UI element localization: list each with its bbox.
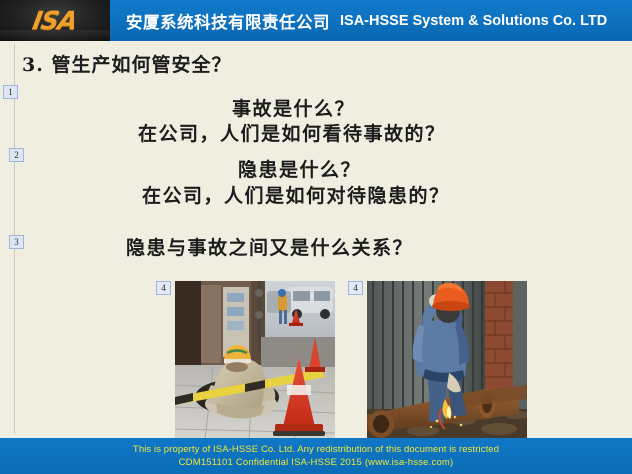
slide-footer: This is property of ISA-HSSE Co. Ltd. An… (0, 438, 632, 474)
annotation-marker-4-left[interactable]: 4 (156, 281, 171, 295)
page-title: 3. 管生产如何管安全？ (22, 50, 231, 77)
annotation-marker-2[interactable]: 2 (9, 148, 24, 162)
annotation-marker-3[interactable]: 3 (9, 235, 24, 249)
isa-logo: ISA (0, 0, 110, 41)
question-1-line-1: 事故是什么？ (232, 94, 355, 121)
photo-manhole-worker-graphic (175, 281, 335, 440)
slide-canvas: ISA 安厦系统科技有限责任公司 ISA-HSSE System & Solut… (0, 0, 632, 474)
annotation-marker-4-right[interactable]: 4 (348, 281, 363, 295)
header-title-bar: 安厦系统科技有限责任公司 ISA-HSSE System & Solutions… (110, 0, 632, 41)
slide-header: ISA 安厦系统科技有限责任公司 ISA-HSSE System & Solut… (0, 0, 632, 41)
annotation-marker-1[interactable]: 1 (3, 85, 18, 99)
footer-document-id-line: CDM151101 Confidential ISA-HSSE 2015 (ww… (179, 457, 454, 468)
footer-copyright-line: This is property of ISA-HSSE Co. Ltd. An… (133, 444, 499, 455)
question-2-line-1: 隐患是什么？ (238, 155, 361, 182)
question-2-line-2: 在公司，人们是如何对待隐患的？ (142, 181, 450, 208)
photo-manhole-worker (175, 281, 335, 440)
photo-hardhat-worker (367, 281, 527, 440)
question-3-line-1: 隐患与事故之间又是什么关系？ (126, 233, 413, 260)
company-name-en: ISA-HSSE System & Solutions Co. LTD (340, 13, 607, 29)
question-1-line-2: 在公司，人们是如何看待事故的？ (138, 119, 446, 146)
logo-wordmark: ISA (31, 6, 80, 35)
company-name-cn: 安厦系统科技有限责任公司 (126, 9, 330, 33)
photo-hardhat-worker-graphic (367, 281, 527, 440)
